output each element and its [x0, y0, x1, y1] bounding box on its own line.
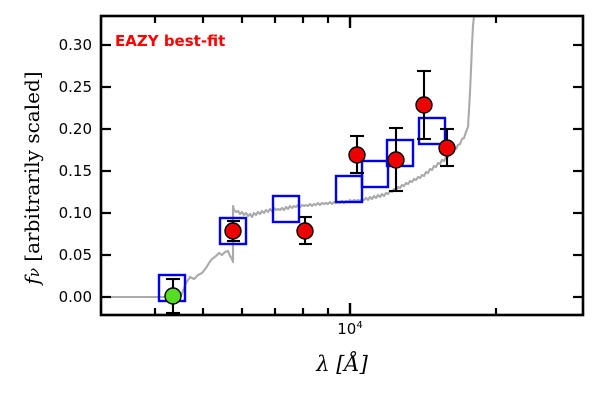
y-tick-label-0: 0.00 [40, 288, 92, 306]
x-axis-label: λ [Å] [101, 352, 583, 376]
data-point-red [439, 140, 455, 156]
x-tick-label-1e4: 104 [320, 320, 380, 338]
y-tick-label-5: 0.25 [40, 78, 92, 96]
data-point-red [388, 152, 404, 168]
figure-eazy-sed-fit: 0.00 0.05 0.10 0.15 0.20 0.25 0.30 104 λ… [0, 0, 600, 400]
y-tick-label-3: 0.15 [40, 162, 92, 180]
plot-canvas [0, 0, 600, 400]
y-tick-label-4: 0.20 [40, 120, 92, 138]
data-point-red [349, 147, 365, 163]
y-tick-label-2: 0.10 [40, 204, 92, 222]
data-point-red [297, 223, 313, 239]
y-axis-label: fν [arbitrarily scaled] [20, 28, 44, 328]
data-point-green [165, 288, 181, 304]
data-point-red [416, 97, 432, 113]
y-tick-label-6: 0.30 [40, 36, 92, 54]
annotation-eazy-best-fit: EAZY best-fit [115, 32, 225, 50]
data-point-red [225, 223, 241, 239]
plot-background [101, 16, 583, 315]
y-tick-label-1: 0.05 [40, 246, 92, 264]
